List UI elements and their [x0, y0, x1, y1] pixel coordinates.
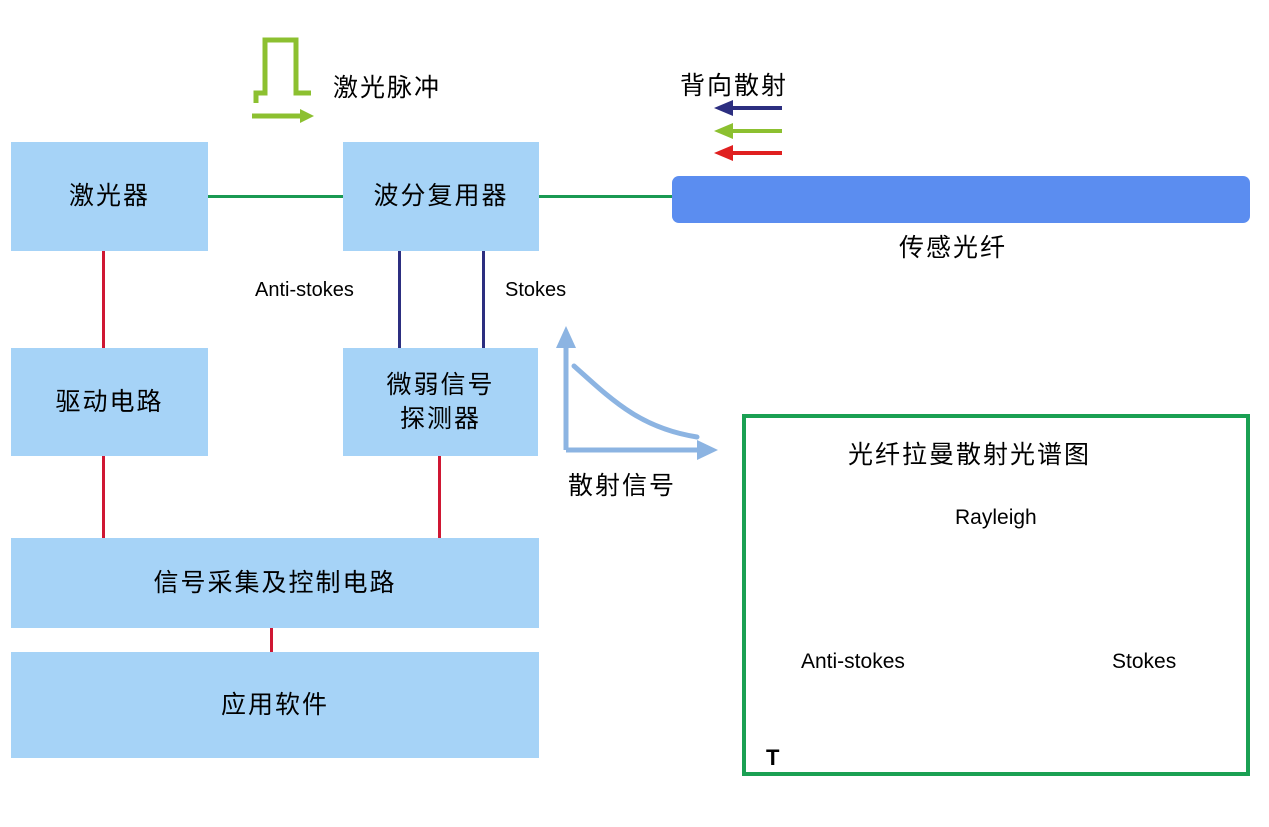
- block-weak-signal-detector[interactable]: 微弱信号 探测器: [343, 348, 538, 456]
- electrical-line-acquisition-to-software: [270, 627, 273, 653]
- label-laser-pulse: 激光脉冲: [333, 68, 441, 104]
- stokes-line: [482, 250, 485, 349]
- block-application-software-label: 应用软件: [221, 688, 329, 723]
- label-backscatter: 背向散射: [680, 66, 788, 102]
- scatter-signal-plot: [556, 326, 718, 460]
- block-wdm[interactable]: 波分复用器: [343, 142, 539, 251]
- block-application-software[interactable]: 应用软件: [11, 652, 539, 758]
- electrical-line-drive-to-acquisition: [102, 455, 105, 539]
- block-signal-acquisition-control[interactable]: 信号采集及控制电路: [11, 538, 539, 628]
- block-drive-circuit[interactable]: 驱动电路: [11, 348, 208, 456]
- block-laser[interactable]: 激光器: [11, 142, 208, 251]
- block-signal-acquisition-control-label: 信号采集及控制电路: [153, 566, 396, 601]
- spectrum-panel-title: 光纤拉曼散射光谱图: [848, 435, 1091, 471]
- block-weak-signal-detector-label: 微弱信号 探测器: [386, 368, 494, 437]
- optical-line-wdm-to-fiber: [538, 195, 674, 198]
- label-sensing-fiber: 传感光纤: [899, 228, 1007, 264]
- sensing-fiber-bar[interactable]: [672, 176, 1250, 223]
- laser-pulse-icon: [252, 40, 314, 123]
- block-wdm-label: 波分复用器: [373, 179, 508, 214]
- anti-stokes-line: [398, 250, 401, 349]
- diagram-canvas: 激光器 波分复用器 驱动电路 微弱信号 探测器 信号采集及控制电路 应用软件 激…: [0, 0, 1269, 827]
- label-scatter-signal: 散射信号: [568, 466, 676, 502]
- label-anti-stokes-peak: Anti-stokes: [801, 650, 905, 674]
- label-rayleigh: Rayleigh: [955, 506, 1037, 530]
- electrical-line-laser-to-drive: [102, 250, 105, 349]
- label-stokes-line: Stokes: [505, 279, 566, 302]
- optical-line-laser-to-wdm: [208, 195, 344, 198]
- label-anti-stokes-line: Anti-stokes: [255, 279, 354, 302]
- backscatter-arrows: [714, 100, 782, 161]
- label-temperature-axis: T: [766, 745, 779, 771]
- electrical-line-detector-to-acquisition: [438, 455, 441, 539]
- block-drive-circuit-label: 驱动电路: [55, 385, 163, 420]
- block-laser-label: 激光器: [69, 179, 150, 214]
- label-stokes-peak: Stokes: [1112, 650, 1176, 674]
